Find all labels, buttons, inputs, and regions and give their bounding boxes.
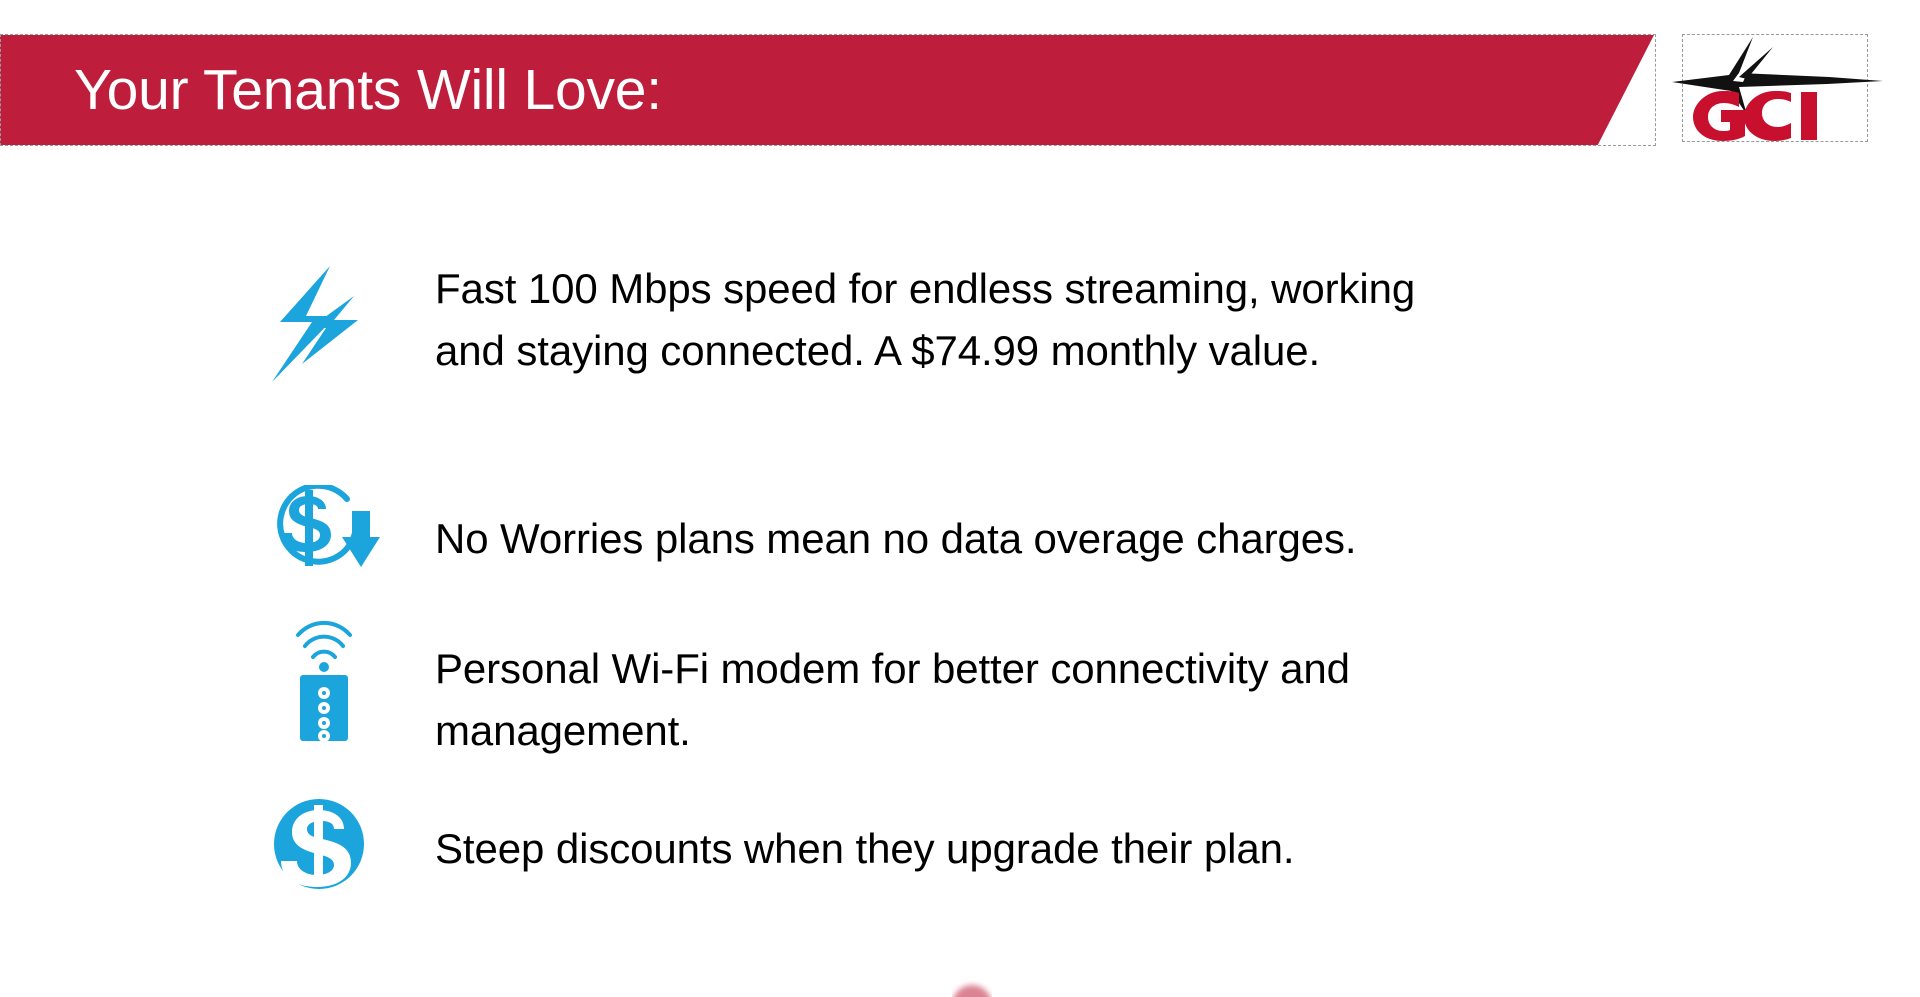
bullet-text-no-overage: No Worries plans mean no data overage ch… <box>435 508 1615 570</box>
lightning-bolt-icon <box>272 264 372 384</box>
dollar-circle-discount-icon <box>272 797 366 891</box>
dollar-circle-down-arrow-icon <box>264 485 384 575</box>
wifi-waves-icon <box>298 623 350 657</box>
wifi-modem-icon <box>292 615 356 743</box>
bullet-text-wifi-modem: Personal Wi-Fi modem for better connecti… <box>435 638 1555 762</box>
bullet-text-speed: Fast 100 Mbps speed for endless streamin… <box>435 258 1495 382</box>
slide-canvas: Your Tenants Will Love: <box>0 0 1920 994</box>
bullet-list: Fast 100 Mbps speed for endless streamin… <box>0 0 1920 994</box>
down-arrow-icon <box>342 511 380 567</box>
bottom-cut-off-shape-fill <box>952 985 992 997</box>
bullet-text-discounts: Steep discounts when they upgrade their … <box>435 818 1555 880</box>
